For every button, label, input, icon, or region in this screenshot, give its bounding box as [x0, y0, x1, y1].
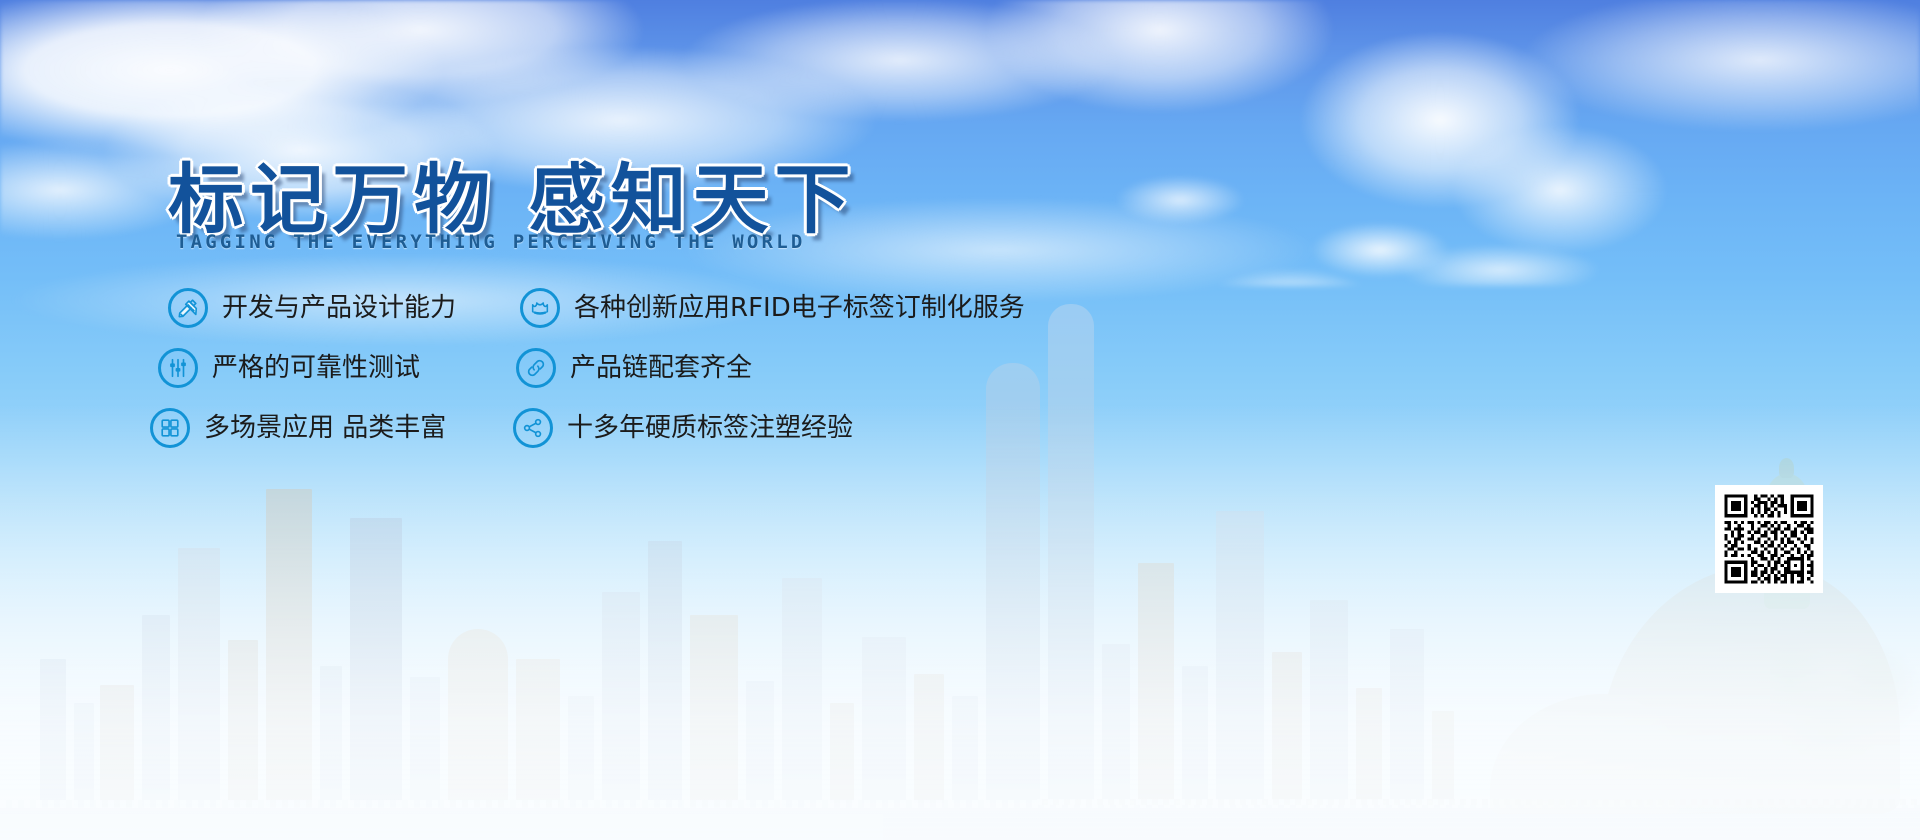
share-network-icon	[513, 408, 553, 448]
feature-label: 十多年硬质标签注塑经验	[567, 415, 853, 441]
feature-label: 产品链配套齐全	[570, 355, 752, 381]
feature-label: 严格的可靠性测试	[212, 355, 420, 381]
qr-code-image	[1721, 491, 1817, 587]
feature-item: 严格的可靠性测试	[158, 348, 516, 388]
feature-label: 多场景应用 品类丰富	[204, 415, 446, 441]
link-chain-icon	[516, 348, 556, 388]
banner-content: 标记万物 感知天下 TAGGING THE EVERYTHING PERCEIV…	[0, 0, 1920, 840]
grid-windows-icon	[150, 408, 190, 448]
feature-label: 开发与产品设计能力	[222, 295, 456, 321]
feature-row: 多场景应用 品类丰富 十多年硬质标签注塑经验	[150, 408, 1050, 448]
feature-label: 各种创新应用RFID电子标签订制化服务	[574, 295, 1025, 321]
feature-list: 开发与产品设计能力 各种创新应用RFID电子标签订制化服务	[150, 288, 1050, 468]
feature-item: 各种创新应用RFID电子标签订制化服务	[520, 288, 1050, 328]
feature-item: 多场景应用 品类丰富	[150, 408, 513, 448]
crown-icon	[520, 288, 560, 328]
feature-item: 产品链配套齐全	[516, 348, 1050, 388]
feature-row: 严格的可靠性测试 产品链配套齐全	[158, 348, 1050, 388]
promo-banner: 标记万物 感知天下 TAGGING THE EVERYTHING PERCEIV…	[0, 0, 1920, 840]
sliders-icon	[158, 348, 198, 388]
page-subtitle: TAGGING THE EVERYTHING PERCEIVING THE WO…	[176, 231, 805, 253]
feature-item: 十多年硬质标签注塑经验	[513, 408, 1050, 448]
feature-item: 开发与产品设计能力	[168, 288, 520, 328]
pencil-ruler-icon	[168, 288, 208, 328]
qr-code[interactable]	[1715, 485, 1823, 593]
feature-row: 开发与产品设计能力 各种创新应用RFID电子标签订制化服务	[168, 288, 1050, 328]
